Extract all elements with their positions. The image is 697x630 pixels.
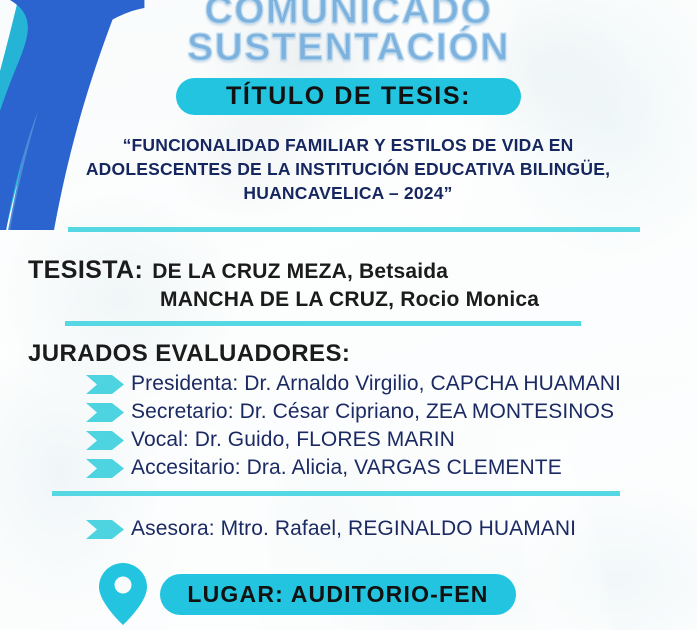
chevron-right-icon [86, 375, 124, 394]
header-line-comunicado: COMUNICADO [0, 0, 697, 29]
jury-member-presidenta: Presidenta: Dr. Arnaldo Virgilio, CAPCHA… [131, 372, 621, 396]
jury-member-vocal: Vocal: Dr. Guido, FLORES MARIN [131, 428, 455, 452]
titulo-de-tesis-badge: TÍTULO DE TESIS: [176, 78, 521, 115]
chevron-right-icon [86, 403, 124, 422]
chevron-right-icon [86, 520, 124, 539]
tesista-name-2: MANCHA DE LA CRUZ, Rocio Monica [160, 288, 539, 312]
poster-header: COMUNICADO SUSTENTACIÓN [0, 0, 697, 66]
tesista-row: TESISTA: DE LA CRUZ MEZA, Betsaida [28, 256, 448, 285]
header-line-sustentacion: SUSTENTACIÓN [0, 29, 697, 66]
lugar-badge: LUGAR: AUDITORIO-FEN [160, 574, 516, 615]
tesista-label: TESISTA: [28, 256, 143, 285]
list-item: Presidenta: Dr. Arnaldo Virgilio, CAPCHA… [86, 370, 686, 398]
sustentacion-poster: COMUNICADO SUSTENTACIÓN TÍTULO DE TESIS:… [0, 0, 697, 630]
chevron-right-icon [86, 459, 124, 478]
jury-member-secretario: Secretario: Dr. César Cipriano, ZEA MONT… [131, 400, 614, 424]
list-item: Secretario: Dr. César Cipriano, ZEA MONT… [86, 398, 686, 426]
list-item: Vocal: Dr. Guido, FLORES MARIN [86, 426, 686, 454]
thesis-title-text: “FUNCIONALIDAD FAMILIAR Y ESTILOS DE VID… [48, 133, 648, 205]
list-item: Accesitario: Dra. Alicia, VARGAS CLEMENT… [86, 454, 686, 482]
asesora-text: Asesora: Mtro. Rafael, REGINALDO HUAMANI [131, 517, 576, 541]
tesista-name-1: DE LA CRUZ MEZA, Betsaida [152, 260, 448, 284]
divider-line [68, 227, 640, 232]
jury-member-accesitario: Accesitario: Dra. Alicia, VARGAS CLEMENT… [131, 456, 562, 480]
divider-line [52, 491, 620, 496]
jurados-list: Presidenta: Dr. Arnaldo Virgilio, CAPCHA… [86, 370, 686, 482]
chevron-right-icon [86, 431, 124, 450]
map-pin-icon [98, 562, 148, 626]
asesora-row: Asesora: Mtro. Rafael, REGINALDO HUAMANI [86, 515, 576, 543]
divider-line [65, 321, 581, 326]
jurados-evaluadores-heading: JURADOS EVALUADORES: [28, 340, 350, 368]
